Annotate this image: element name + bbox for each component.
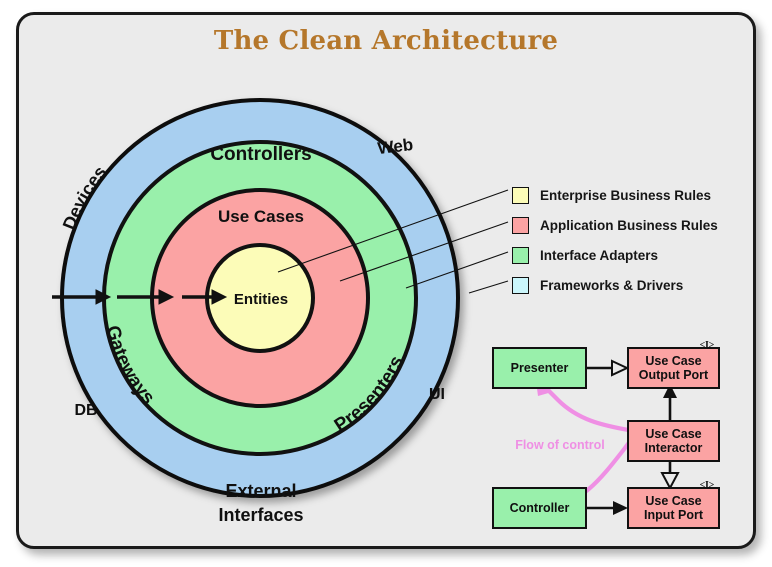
legend-swatch-interface-adapters [512,247,529,264]
flow-of-control-label: Flow of control [490,438,630,452]
legend-swatch-enterprise [512,187,529,204]
legend-item-frameworks-and-drivers: Frameworks & Drivers [512,270,758,300]
interface-stereotype-output-port: <I> [700,340,714,351]
flow-node-input-port-label-1: Use Case [645,494,701,508]
flow-node-input-port-label-2: Input Port [644,508,703,522]
legend-item-enterprise-business-rules: Enterprise Business Rules [512,180,758,210]
interface-stereotype-input-port: <I> [700,480,714,491]
legend-item-interface-adapters: Interface Adapters [512,240,758,270]
flow-node-presenter-label: Presenter [511,361,569,375]
legend-label-frameworks: Frameworks & Drivers [540,278,683,293]
diagram-canvas: The Clean Architecture [0,0,772,567]
legend-label-enterprise: Enterprise Business Rules [540,188,711,203]
legend-swatch-application [512,217,529,234]
flow-node-interactor-label-1: Use Case [645,427,701,441]
page-title: The Clean Architecture [0,26,772,56]
flow-node-controller-label: Controller [510,501,570,515]
legend-label-application: Application Business Rules [540,218,718,233]
flow-node-interactor-label-2: Interactor [645,441,703,455]
legend-item-application-business-rules: Application Business Rules [512,210,758,240]
flow-node-use-case-interactor[interactable]: Use Case Interactor [627,420,720,462]
flow-of-control-diagram: Presenter <I> Use Case Output Port Use C… [480,330,765,535]
legend-swatch-frameworks [512,277,529,294]
flow-node-presenter[interactable]: Presenter [492,347,587,389]
legend: Enterprise Business Rules Application Bu… [512,180,758,300]
flow-node-output-port-label-2: Output Port [639,368,708,382]
flow-node-use-case-output-port[interactable]: <I> Use Case Output Port [627,347,720,389]
legend-label-interface-adapters: Interface Adapters [540,248,658,263]
flow-node-use-case-input-port[interactable]: <I> Use Case Input Port [627,487,720,529]
flow-node-controller[interactable]: Controller [492,487,587,529]
flow-node-output-port-label-1: Use Case [645,354,701,368]
